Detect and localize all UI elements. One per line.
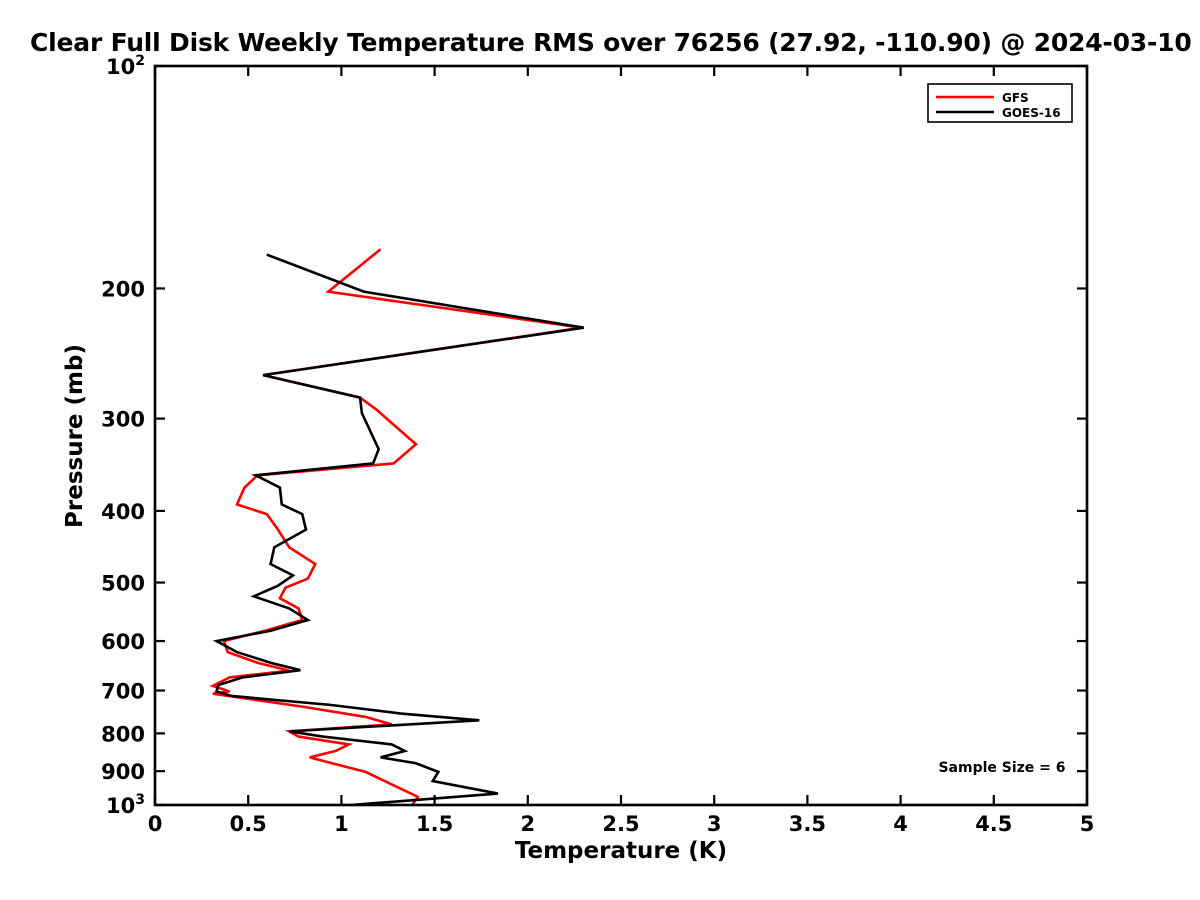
y-tick-label: 200: [101, 277, 145, 301]
x-tick-label: 1.5: [416, 812, 453, 836]
x-tick-label: 4: [893, 812, 908, 836]
y-tick-label: 103: [106, 792, 145, 818]
plot-frame: [155, 66, 1087, 805]
y-tick-label: 300: [101, 408, 145, 432]
chart-figure: Clear Full Disk Weekly Temperature RMS o…: [0, 0, 1200, 900]
y-tick-label: 700: [101, 680, 145, 704]
x-axis-label: Temperature (K): [515, 838, 727, 864]
x-tick-label: 1: [334, 812, 349, 836]
y-tick-label: 600: [101, 630, 145, 654]
y-tick-label: 102: [106, 53, 145, 79]
x-tick-label: 0: [148, 812, 163, 836]
sample-size-annotation: Sample Size = 6: [938, 760, 1065, 776]
y-tick-label: 800: [101, 722, 145, 746]
y-tick-label: 500: [101, 572, 145, 596]
x-tick-label: 3: [707, 812, 722, 836]
x-tick-label: 3.5: [789, 812, 826, 836]
plot-area: [155, 66, 1087, 805]
y-tick-label: 400: [101, 500, 145, 524]
legend[interactable]: GFS GOES-16: [928, 84, 1072, 122]
x-tick-label: 4.5: [975, 812, 1012, 836]
y-axis-label: Pressure (mb): [62, 344, 88, 528]
x-tick-label: 0.5: [230, 812, 267, 836]
y-tick-label: 900: [101, 760, 145, 784]
x-tick-label: 2.5: [602, 812, 639, 836]
legend-label-goes16: GOES-16: [1002, 106, 1061, 120]
x-tick-label: 5: [1080, 812, 1095, 836]
legend-label-gfs: GFS: [1002, 91, 1029, 105]
temperature-rms-profile-chart: 00.511.522.533.544.55 102200300400500600…: [0, 0, 1200, 900]
x-tick-label: 2: [520, 812, 535, 836]
